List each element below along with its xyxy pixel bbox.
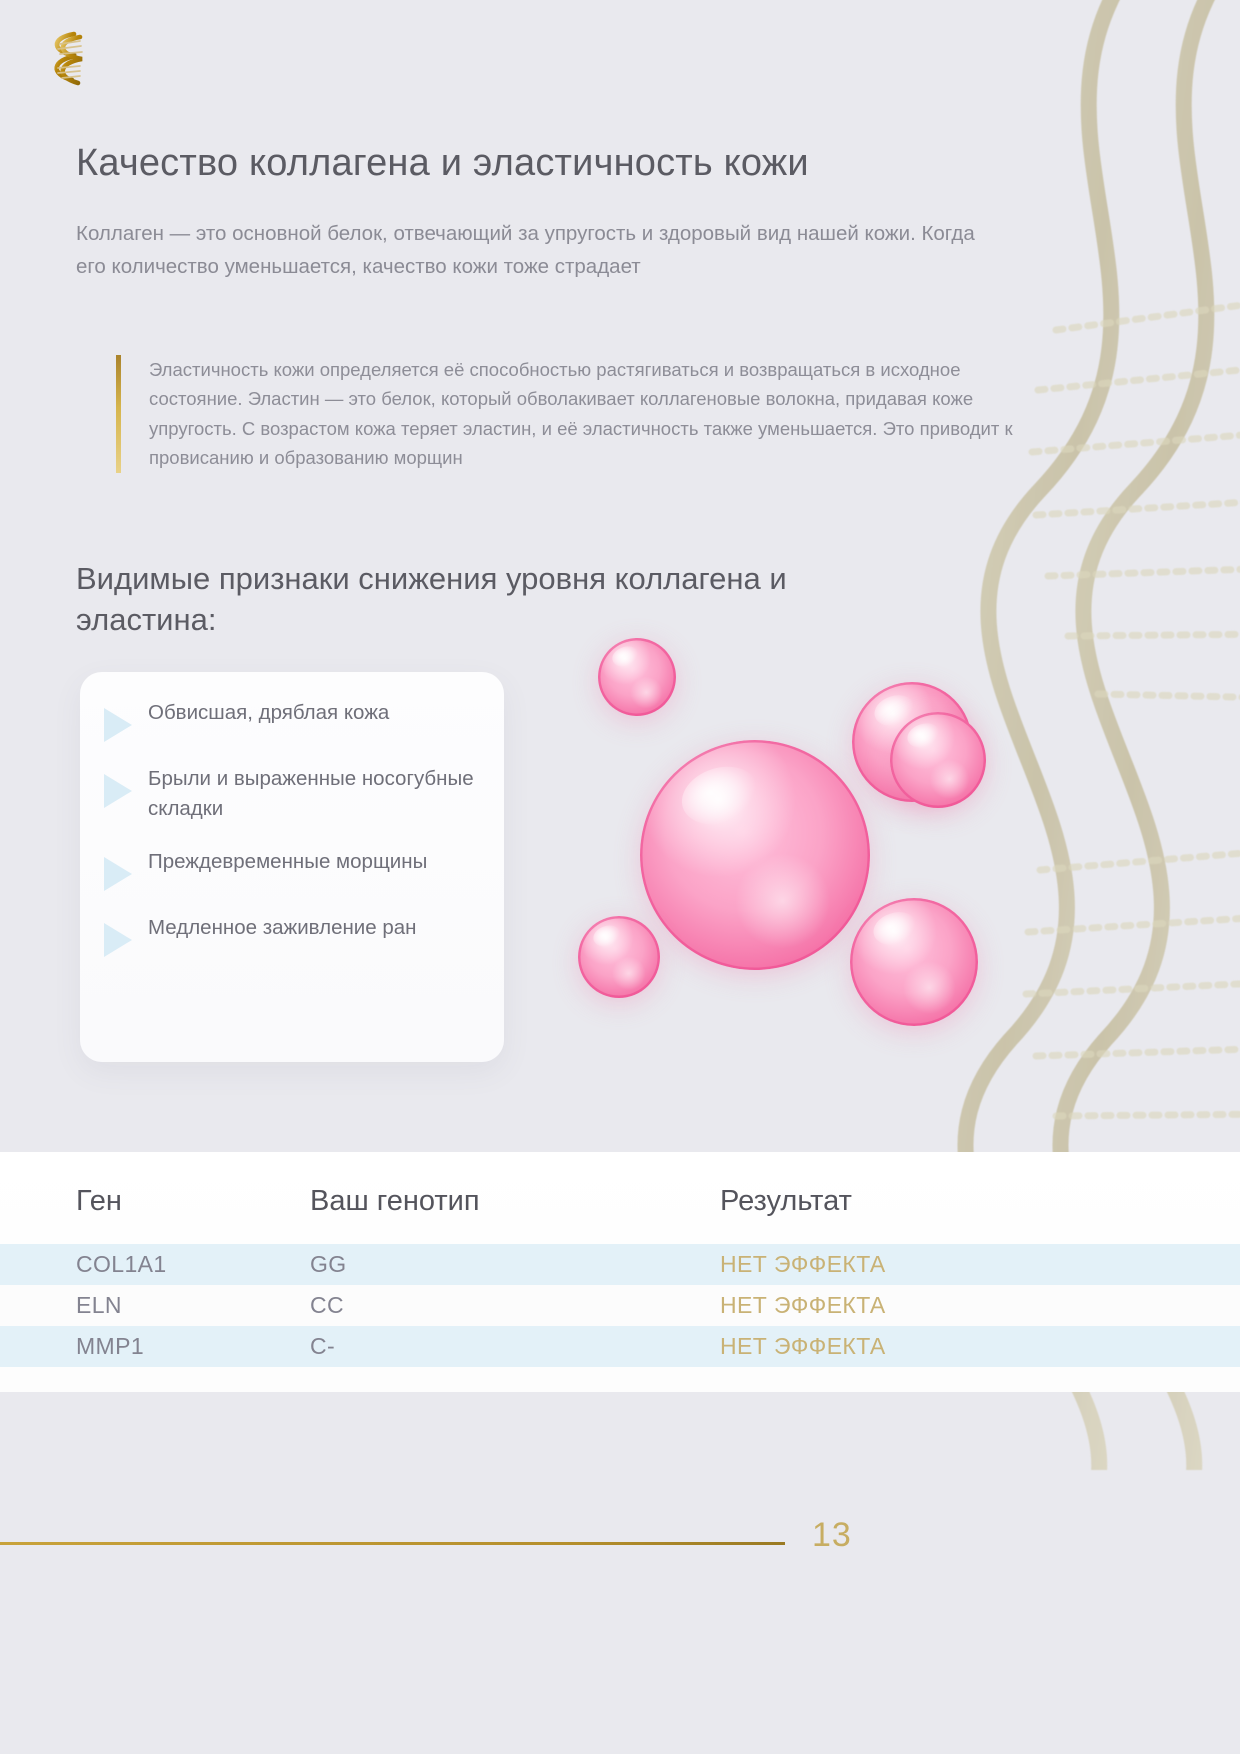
page-title: Качество коллагена и эластичность кожи (76, 141, 996, 187)
triangle-bullet-icon (104, 857, 132, 891)
list-item: Брыли и выраженные носогубные складки (98, 764, 486, 825)
triangle-bullet-icon (104, 774, 132, 808)
highlight-quote: Эластичность кожи определяется её способ… (116, 355, 1029, 473)
report-page: Качество коллагена и эластичность кожи К… (0, 0, 1240, 1754)
triangle-bullet-icon (104, 923, 132, 957)
list-item: Обвисшая, дряблая кожа (98, 698, 486, 742)
cell-genotype: C- (310, 1333, 720, 1360)
list-item: Преждевременные морщины (98, 847, 486, 891)
cell-gene: ELN (0, 1292, 310, 1319)
page-content: Качество коллагена и эластичность кожи К… (0, 0, 1240, 1754)
page-footer: 13 (0, 1494, 1240, 1754)
list-item-label: Медленное заживление ран (148, 913, 416, 943)
cell-genotype: CC (310, 1292, 720, 1319)
cell-result: НЕТ ЭФФЕКТА (720, 1251, 1240, 1278)
intro-paragraph: Коллаген — это основной белок, отвечающи… (76, 217, 976, 283)
page-number: 13 (812, 1516, 852, 1555)
genotype-results-table: Ген Ваш генотип Результат COL1A1 GG НЕТ … (0, 1152, 1240, 1392)
table-row: ELN CC НЕТ ЭФФЕКТА (0, 1285, 1240, 1326)
column-header-gene: Ген (0, 1185, 310, 1218)
list-item-label: Брыли и выраженные носогубные складки (148, 764, 486, 825)
cell-genotype: GG (310, 1251, 720, 1278)
table-row: COL1A1 GG НЕТ ЭФФЕКТА (0, 1244, 1240, 1285)
table-header-row: Ген Ваш генотип Результат (0, 1170, 1240, 1232)
dna-helix-icon (36, 24, 92, 94)
cell-gene: COL1A1 (0, 1251, 310, 1278)
list-item-label: Преждевременные морщины (148, 847, 427, 877)
column-header-genotype: Ваш генотип (310, 1185, 720, 1218)
list-item-label: Обвисшая, дряблая кожа (148, 698, 389, 728)
column-header-result: Результат (720, 1185, 1240, 1218)
footer-rule (0, 1542, 785, 1545)
signs-card: Обвисшая, дряблая кожа Брыли и выраженны… (80, 672, 504, 1062)
cell-result: НЕТ ЭФФЕКТА (720, 1292, 1240, 1319)
cell-gene: MMP1 (0, 1333, 310, 1360)
signs-list: Обвисшая, дряблая кожа Брыли и выраженны… (98, 698, 486, 979)
list-item: Медленное заживление ран (98, 913, 486, 957)
cell-result: НЕТ ЭФФЕКТА (720, 1333, 1240, 1360)
table-row: MMP1 C- НЕТ ЭФФЕКТА (0, 1326, 1240, 1367)
triangle-bullet-icon (104, 708, 132, 742)
section-title: Видимые признаки снижения уровня коллаге… (76, 558, 876, 641)
